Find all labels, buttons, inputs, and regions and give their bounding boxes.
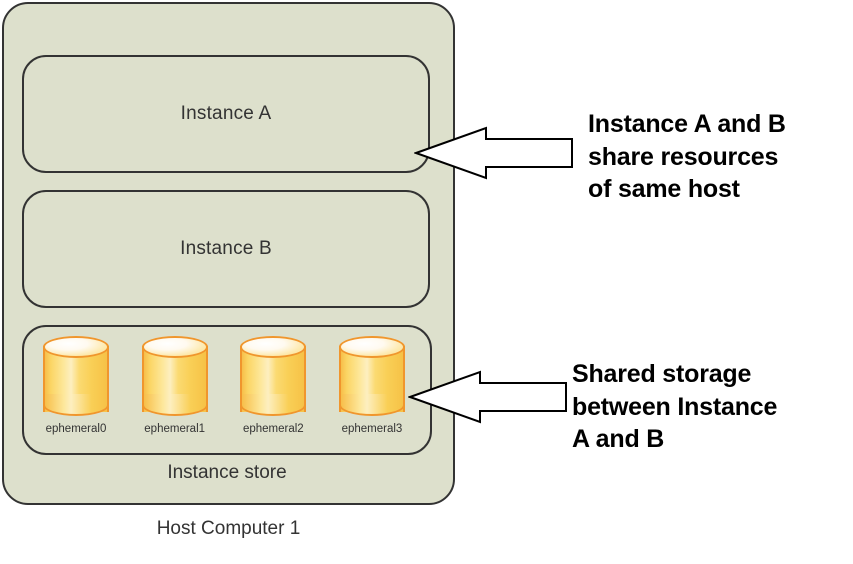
annotation-shared-storage: Shared storage between Instance A and B bbox=[572, 358, 853, 456]
left-arrow-icon bbox=[408, 366, 568, 428]
annotation-line-2: between Instance bbox=[572, 391, 853, 424]
annotation-line-3: A and B bbox=[572, 423, 853, 456]
cylinder-top bbox=[240, 336, 306, 358]
ephemeral-volume-label: ephemeral3 bbox=[342, 423, 403, 435]
host-computer-caption: Host Computer 1 bbox=[2, 518, 455, 540]
ephemeral-volume-label: ephemeral0 bbox=[46, 423, 107, 435]
cylinder-icon bbox=[142, 336, 208, 418]
ephemeral-volume-3: ephemeral3 bbox=[326, 336, 418, 435]
instance-a-label: Instance A bbox=[181, 103, 272, 125]
annotation-line-1: Shared storage bbox=[572, 358, 853, 391]
cylinder-icon bbox=[240, 336, 306, 418]
ephemeral-volume-0: ephemeral0 bbox=[30, 336, 122, 435]
ephemeral-volume-2: ephemeral2 bbox=[227, 336, 319, 435]
annotation-line-2: share resources bbox=[588, 141, 853, 174]
cylinder-bottom bbox=[339, 394, 405, 416]
cylinder-top bbox=[43, 336, 109, 358]
instance-a-box: Instance A bbox=[22, 55, 430, 173]
left-arrow-icon bbox=[414, 122, 574, 184]
cylinder-bottom bbox=[142, 394, 208, 416]
instance-b-label: Instance B bbox=[180, 238, 272, 260]
cylinder-top bbox=[142, 336, 208, 358]
cylinder-top bbox=[339, 336, 405, 358]
ephemeral-volume-row: ephemeral0 ephemeral1 ephemeral2 ephemer… bbox=[24, 336, 424, 454]
cylinder-bottom bbox=[240, 394, 306, 416]
ephemeral-volume-label: ephemeral1 bbox=[144, 423, 205, 435]
instance-store-label: Instance store bbox=[22, 462, 432, 484]
annotation-line-1: Instance A and B bbox=[588, 108, 853, 141]
annotation-line-3: of same host bbox=[588, 173, 853, 206]
instance-b-box: Instance B bbox=[22, 190, 430, 308]
cylinder-bottom bbox=[43, 394, 109, 416]
ephemeral-volume-label: ephemeral2 bbox=[243, 423, 304, 435]
ephemeral-volume-1: ephemeral1 bbox=[129, 336, 221, 435]
cylinder-icon bbox=[339, 336, 405, 418]
annotation-share-resources: Instance A and B share resources of same… bbox=[588, 108, 853, 206]
cylinder-icon bbox=[43, 336, 109, 418]
